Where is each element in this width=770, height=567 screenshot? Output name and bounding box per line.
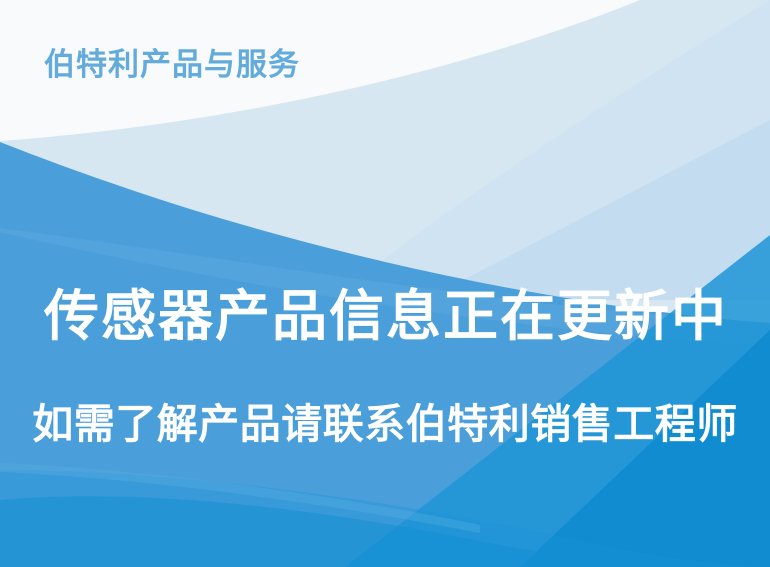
headline-block: 传感器产品信息正在更新中 如需了解产品请联系伯特利销售工程师	[0, 285, 770, 448]
headline-primary: 传感器产品信息正在更新中	[2, 285, 770, 348]
promo-banner: 伯特利产品与服务 传感器产品信息正在更新中 如需了解产品请联系伯特利销售工程师	[0, 0, 770, 567]
page-title: 伯特利产品与服务	[44, 46, 300, 85]
background-waves	[0, 0, 770, 567]
headline-secondary: 如需了解产品请联系伯特利销售工程师	[0, 401, 770, 448]
